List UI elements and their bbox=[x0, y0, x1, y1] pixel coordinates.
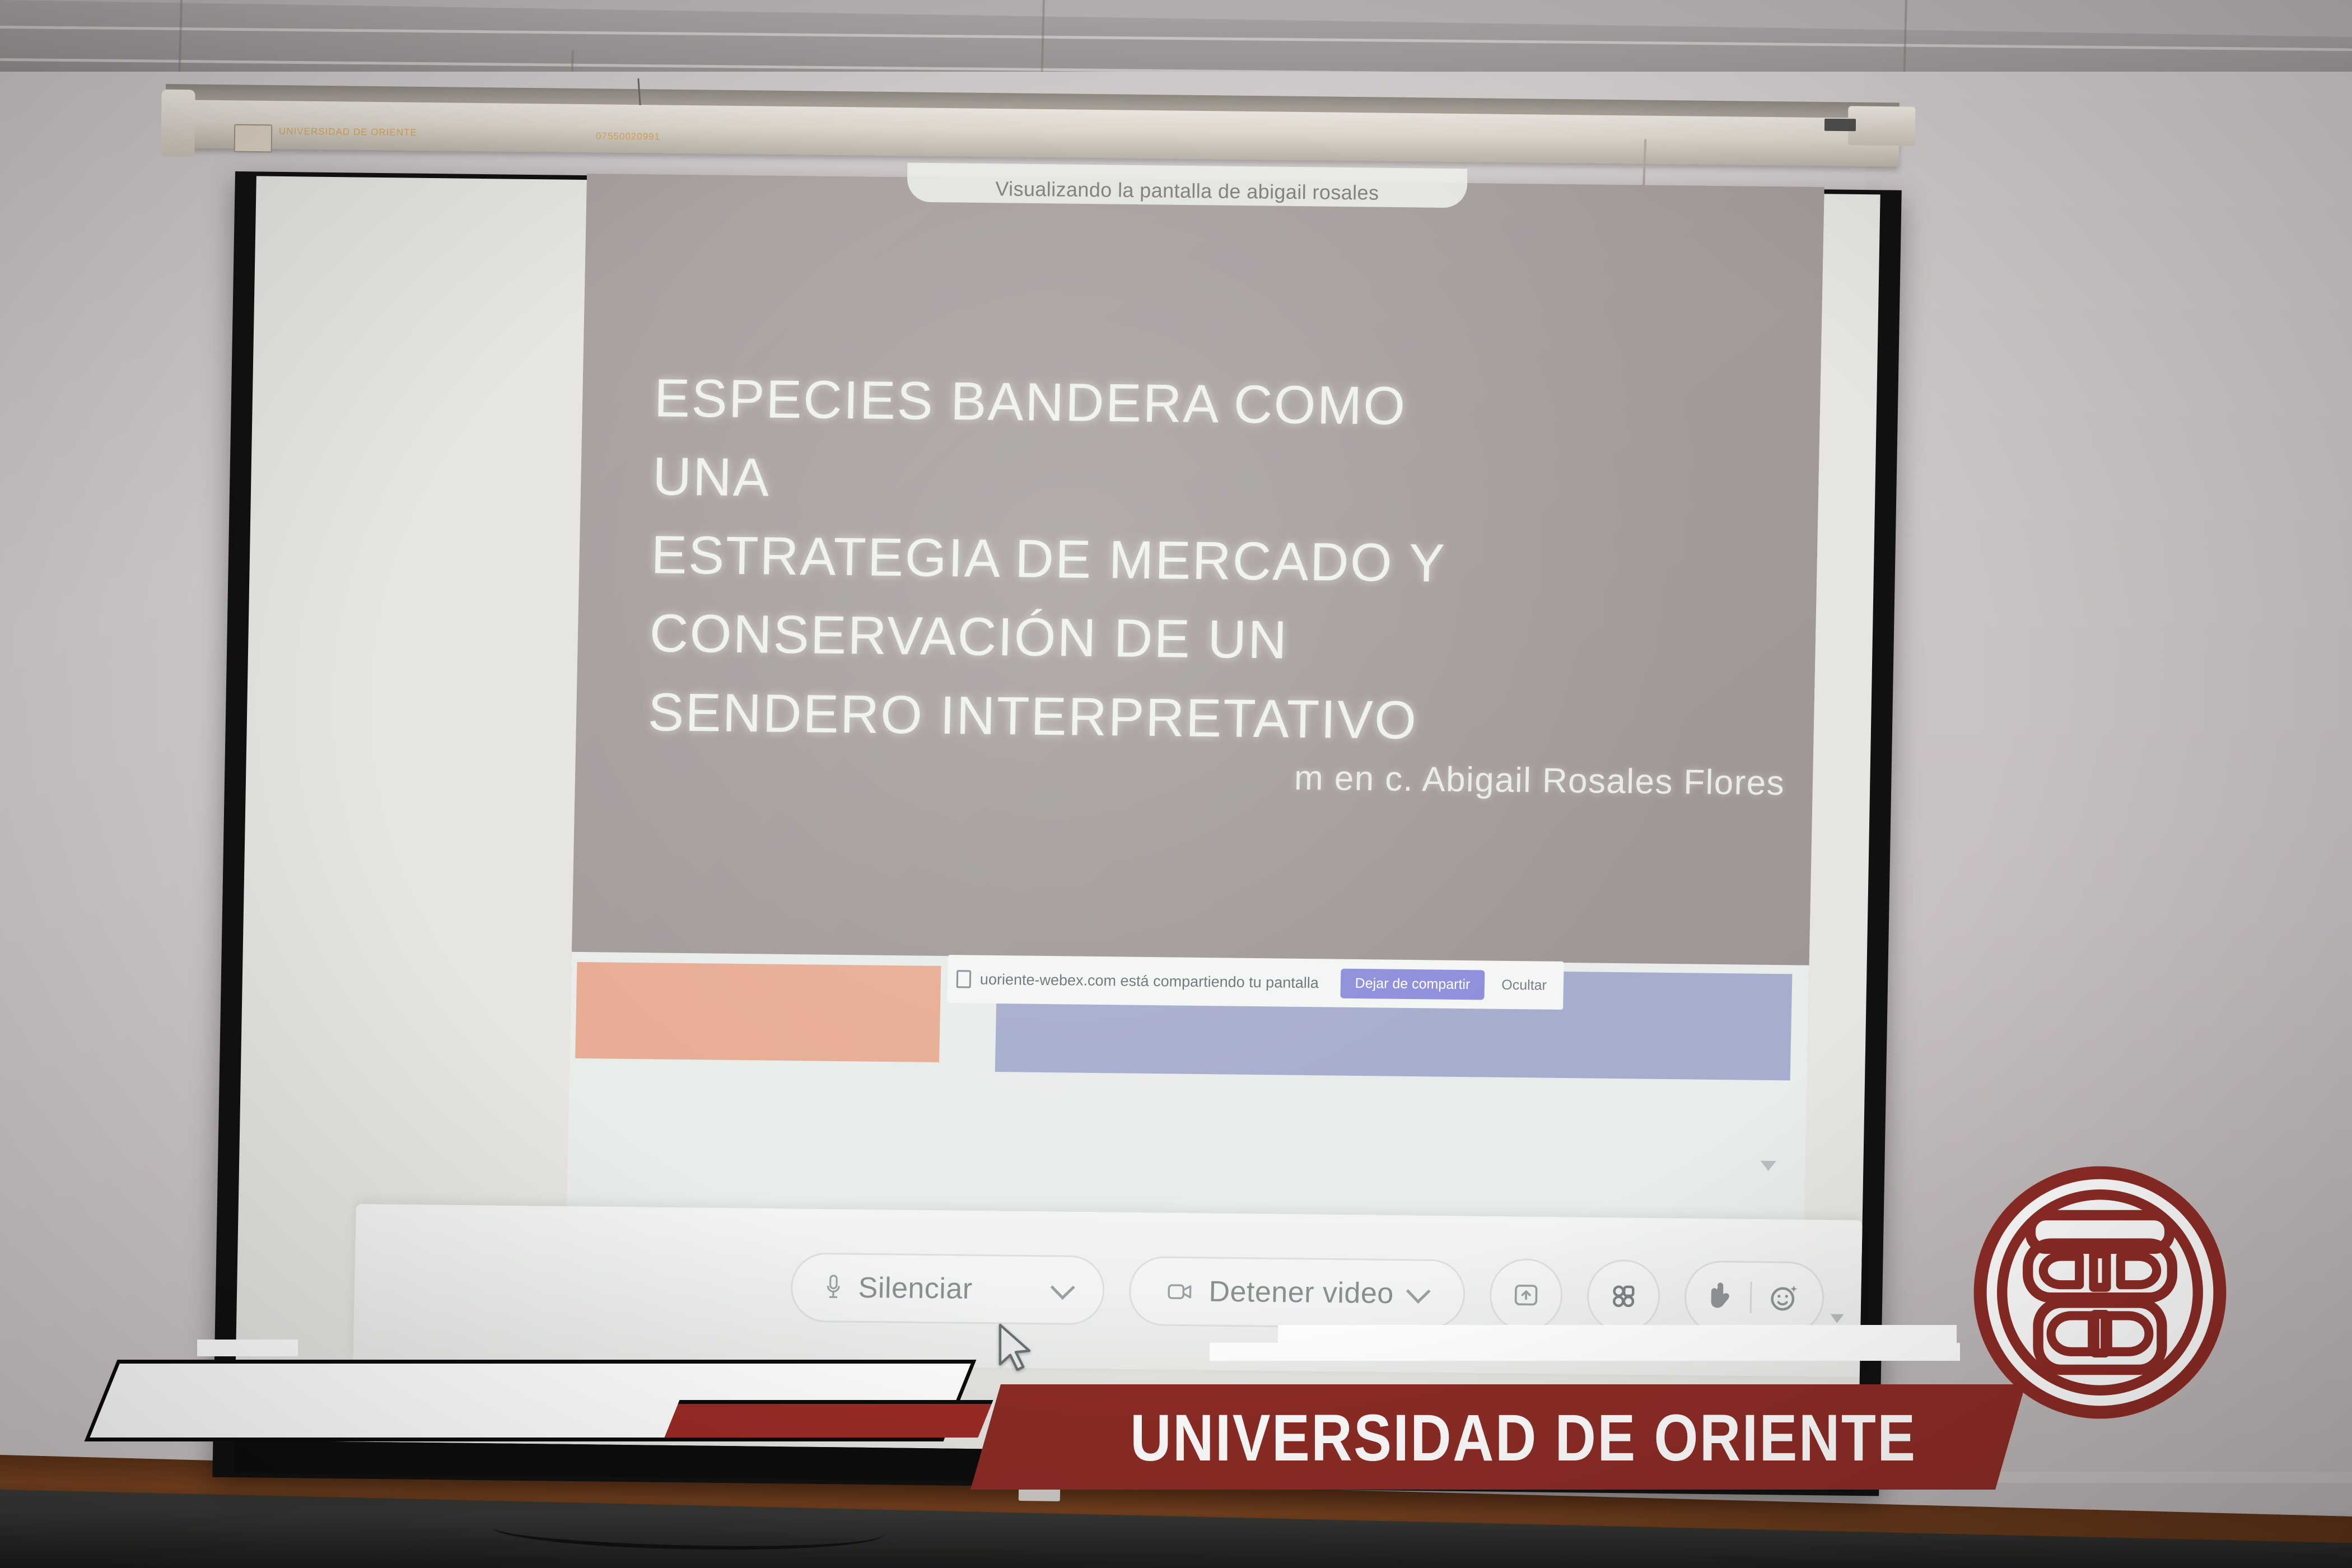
apps-grid-icon bbox=[1609, 1281, 1639, 1311]
reactions-button[interactable] bbox=[1768, 1282, 1800, 1314]
brand-stripe bbox=[1278, 1325, 1957, 1344]
screen-share-message: uoriente-webex.com está compartiendo tu … bbox=[980, 970, 1319, 992]
projected-image: ESPECIES BANDERA COMO UNA ESTRATEGIA DE … bbox=[565, 174, 1824, 1296]
stop-sharing-button[interactable]: Dejar de compartir bbox=[1340, 968, 1485, 1000]
apps-button[interactable] bbox=[1586, 1259, 1661, 1333]
hide-infobar-button[interactable]: Ocultar bbox=[1494, 977, 1555, 993]
asset-tag-sticker bbox=[234, 124, 273, 153]
asset-tag-text: UNIVERSIDAD DE ORIENTE bbox=[279, 126, 417, 140]
slide-title-line-3: CONSERVACIÓN DE UN bbox=[649, 595, 1491, 682]
slide-title-line-1: ESPECIES BANDERA COMO UNA bbox=[652, 359, 1495, 525]
stop-video-button[interactable]: Detener video bbox=[1128, 1256, 1466, 1329]
slide-title: ESPECIES BANDERA COMO UNA ESTRATEGIA DE … bbox=[647, 359, 1495, 760]
brand-stripe bbox=[197, 1340, 298, 1356]
stop-video-button-label: Detener video bbox=[1208, 1275, 1394, 1310]
mute-button-label: Silenciar bbox=[858, 1271, 973, 1306]
slide-author: m en c. Abigail Rosales Flores bbox=[1179, 757, 1785, 804]
toolbar-scroll-arrow[interactable] bbox=[1830, 1314, 1844, 1323]
video-camera-icon bbox=[1167, 1281, 1193, 1302]
slide-title-line-2: ESTRATEGIA DE MERCADO Y bbox=[650, 516, 1492, 604]
cursor-arrow-icon bbox=[996, 1322, 1036, 1375]
brand-stripe bbox=[1210, 1343, 1960, 1361]
university-seal-icon bbox=[1971, 1164, 2229, 1421]
chevron-down-icon[interactable] bbox=[1051, 1275, 1075, 1300]
universidad-de-oriente-logo bbox=[1971, 1164, 2229, 1421]
brand-parallelogram-red bbox=[664, 1400, 993, 1438]
raise-hand-icon bbox=[1709, 1281, 1734, 1313]
screen-case-end-cap bbox=[161, 90, 195, 157]
asset-tag-number: 07550020991 bbox=[596, 130, 660, 143]
raise-hand-button[interactable] bbox=[1709, 1281, 1734, 1313]
slide-canvas: ESPECIES BANDERA COMO UNA ESTRATEGIA DE … bbox=[570, 174, 1824, 1061]
slide-title-line-4: SENDERO INTERPRETATIVO bbox=[647, 673, 1489, 760]
reactions-group bbox=[1684, 1261, 1825, 1335]
scroll-down-arrow[interactable] bbox=[1761, 1161, 1776, 1171]
room-photo-scene: UNIVERSIDAD DE ORIENTE 07550020991 ESPEC… bbox=[0, 0, 2352, 1568]
screen-case-end-cap bbox=[1848, 106, 1916, 146]
brand-banner-text-wrap: UNIVERSIDAD DE ORIENTE bbox=[1098, 1393, 1949, 1483]
viewing-screen-notice-text: Visualizando la pantalla de abigail rosa… bbox=[995, 177, 1379, 204]
screen-share-infobar: uoriente-webex.com está compartiendo tu … bbox=[947, 955, 1564, 1010]
mute-button[interactable]: Silenciar bbox=[790, 1252, 1105, 1325]
screen-share-icon bbox=[956, 970, 972, 988]
toolbar-divider bbox=[1750, 1282, 1752, 1313]
screen-case-label bbox=[1824, 119, 1856, 132]
share-screen-button[interactable] bbox=[1489, 1258, 1564, 1332]
salmon-panel bbox=[575, 962, 941, 1062]
toolbar-left-spacer bbox=[391, 1283, 766, 1287]
university-name: UNIVERSIDAD DE ORIENTE bbox=[1130, 1400, 1916, 1476]
share-screen-icon bbox=[1512, 1281, 1541, 1309]
microphone-icon bbox=[823, 1273, 843, 1302]
smiley-reaction-icon bbox=[1768, 1282, 1800, 1314]
viewing-screen-notice: Visualizando la pantalla de abigail rosa… bbox=[907, 163, 1468, 208]
chevron-down-icon[interactable] bbox=[1406, 1279, 1430, 1304]
